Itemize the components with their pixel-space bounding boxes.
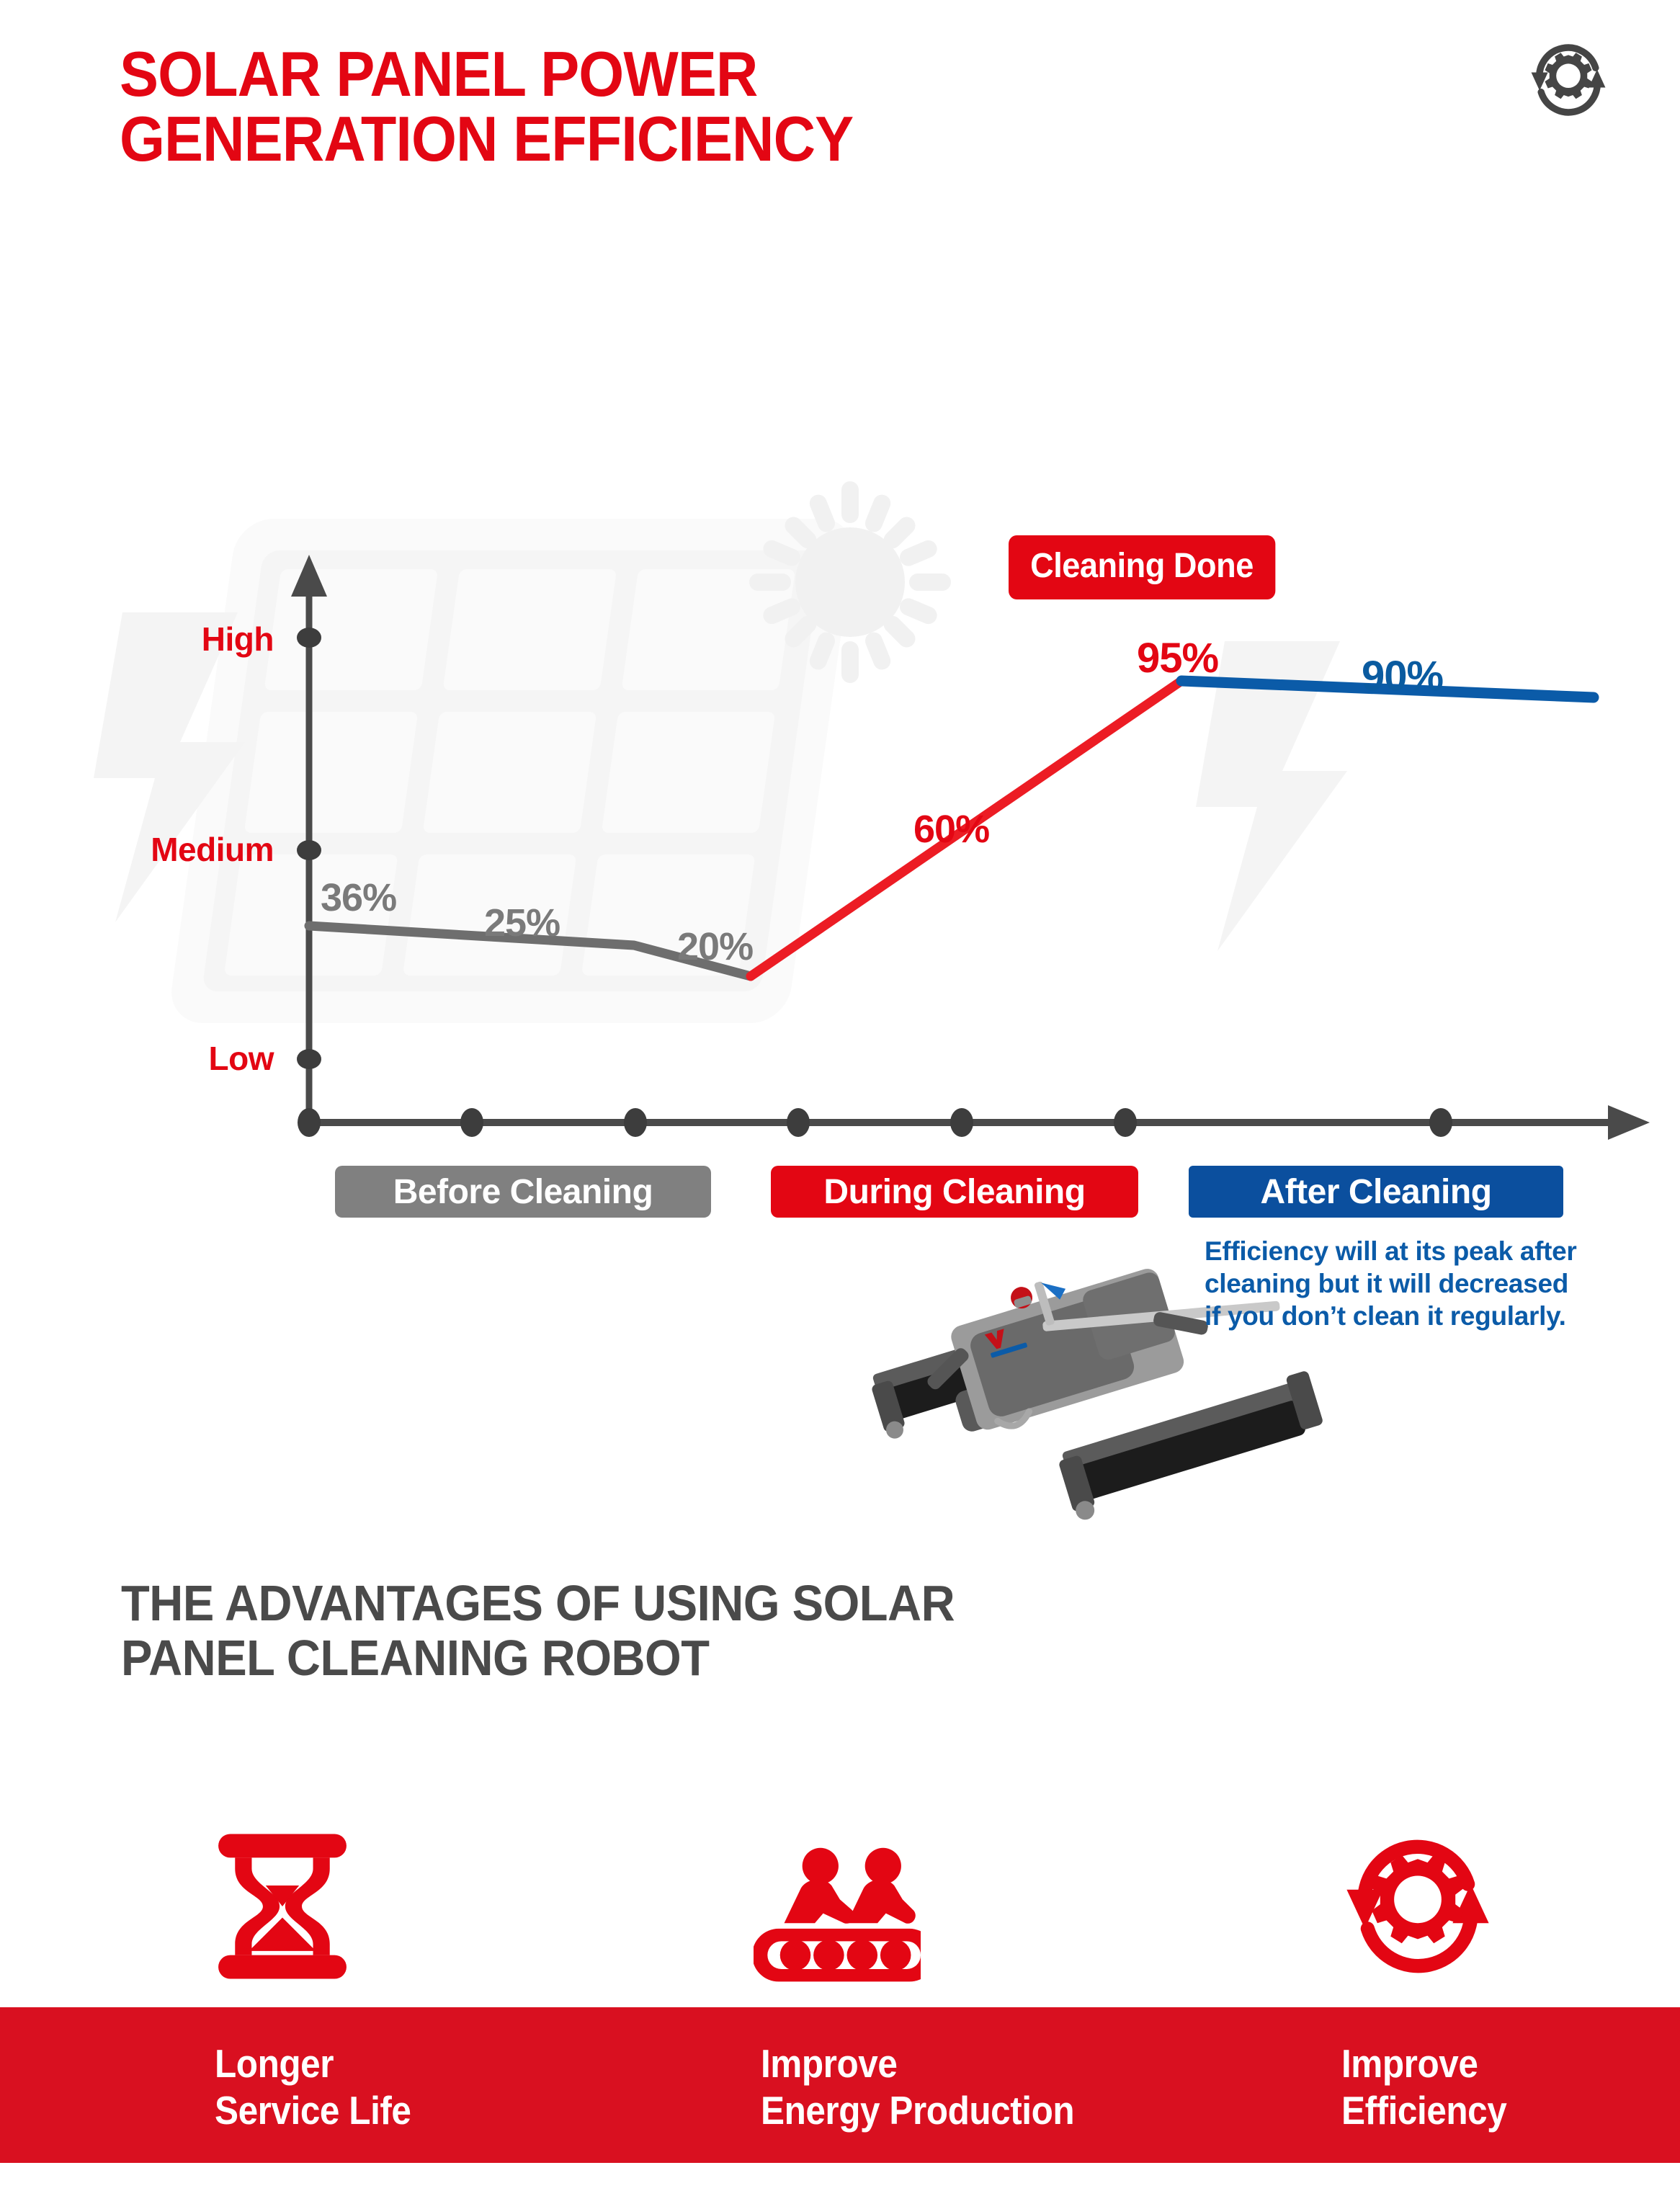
advantage-label-longer-service-life: Longer Service Life (215, 2040, 411, 2134)
data-label-25: 25% (484, 901, 560, 945)
cleaning-done-badge: Cleaning Done (1009, 535, 1275, 599)
y-axis-label-medium: Medium (50, 830, 274, 869)
advantage-label-improve-efficiency: Improve Efficiency (1341, 2040, 1506, 2134)
legend-item-during-cleaning[interactable]: During Cleaning (771, 1166, 1138, 1218)
gear-refresh-icon (1334, 1821, 1501, 1991)
data-label-90: 90% (1362, 652, 1443, 700)
advantage-label-improve-energy-production: Improve Energy Production (761, 2040, 1074, 2134)
chart-legend: Before Cleaning During Cleaning After Cl… (0, 1166, 1680, 1238)
legend-item-after-cleaning[interactable]: After Cleaning (1189, 1166, 1563, 1218)
data-label-36: 36% (321, 875, 396, 920)
data-label-60: 60% (913, 807, 989, 852)
advantages-title: THE ADVANTAGES OF USING SOLAR PANEL CLEA… (121, 1576, 955, 1685)
y-axis-label-high: High (86, 620, 274, 659)
data-label-95: 95% (1137, 634, 1218, 682)
legend-note: Efficiency will at its peak after cleani… (1205, 1235, 1637, 1332)
hourglass-icon (199, 1821, 366, 1991)
conveyor-workers-icon (754, 1821, 921, 1991)
legend-item-before-cleaning[interactable]: Before Cleaning (335, 1166, 711, 1218)
data-label-20: 20% (677, 924, 753, 969)
page-title: SOLAR PANEL POWER GENERATION EFFICIENCY (120, 42, 853, 171)
gear-refresh-icon (1523, 35, 1614, 125)
y-axis-label-low: Low (86, 1039, 274, 1078)
